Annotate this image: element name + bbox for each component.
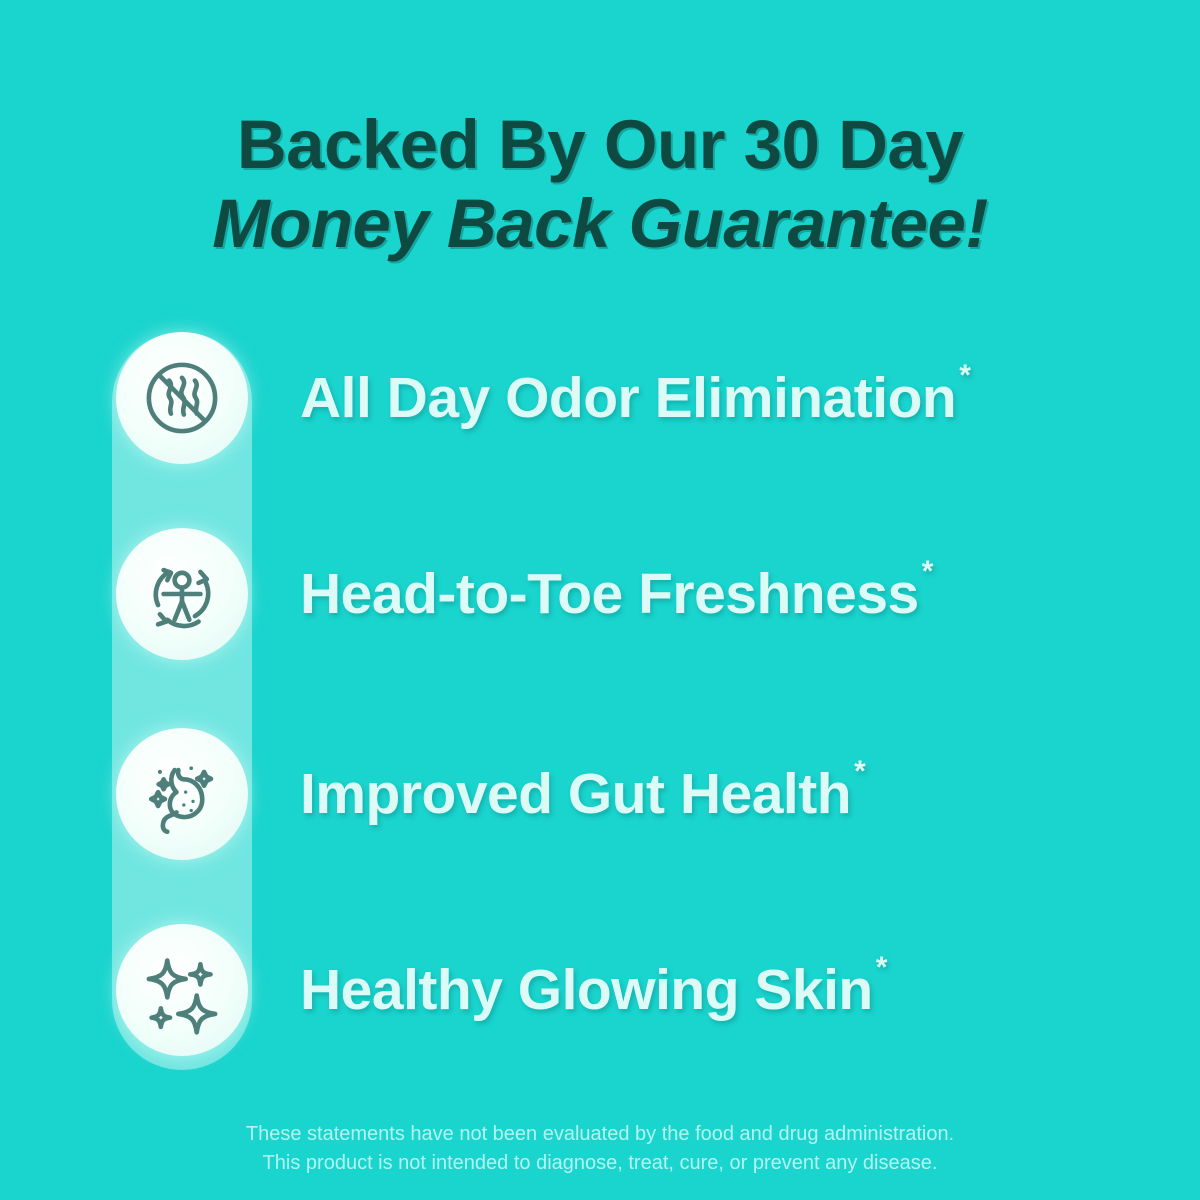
sparkles-icon [116,924,248,1056]
asterisk-mark: * [959,359,970,392]
asterisk-mark: * [876,951,887,984]
promo-graphic: Backed By Our 30 Day Money Back Guarante… [0,0,1200,1200]
page-title: Backed By Our 30 Day Money Back Guarante… [0,108,1200,260]
asterisk-mark: * [854,755,865,788]
no-odor-icon [116,332,248,464]
disclaimer-line-2: This product is not intended to diagnose… [0,1149,1200,1178]
benefit-label-text: Head-to-Toe Freshness [300,562,919,626]
headline-line-2: Money Back Guarantee! [0,187,1200,260]
list-item: Improved Gut Health* [0,728,1200,860]
benefit-label-text: Improved Gut Health [300,762,851,826]
list-item: All Day Odor Elimination* [0,332,1200,464]
list-item: Healthy Glowing Skin* [0,924,1200,1056]
benefit-label: All Day Odor Elimination* [300,365,970,431]
benefit-label-text: All Day Odor Elimination [300,366,956,430]
headline-line-1: Backed By Our 30 Day [0,108,1200,181]
list-item: Head-to-Toe Freshness* [0,528,1200,660]
disclaimer-line-1: These statements have not been evaluated… [0,1120,1200,1149]
benefit-label: Improved Gut Health* [300,761,865,827]
asterisk-mark: * [922,555,933,588]
benefit-label: Head-to-Toe Freshness* [300,561,933,627]
benefit-label-text: Healthy Glowing Skin [300,958,873,1022]
benefit-label: Healthy Glowing Skin* [300,957,887,1023]
benefits-list: All Day Odor Elimination* [0,332,1200,1072]
stomach-sparkle-icon [116,728,248,860]
body-refresh-icon [116,528,248,660]
disclaimer: These statements have not been evaluated… [0,1120,1200,1178]
